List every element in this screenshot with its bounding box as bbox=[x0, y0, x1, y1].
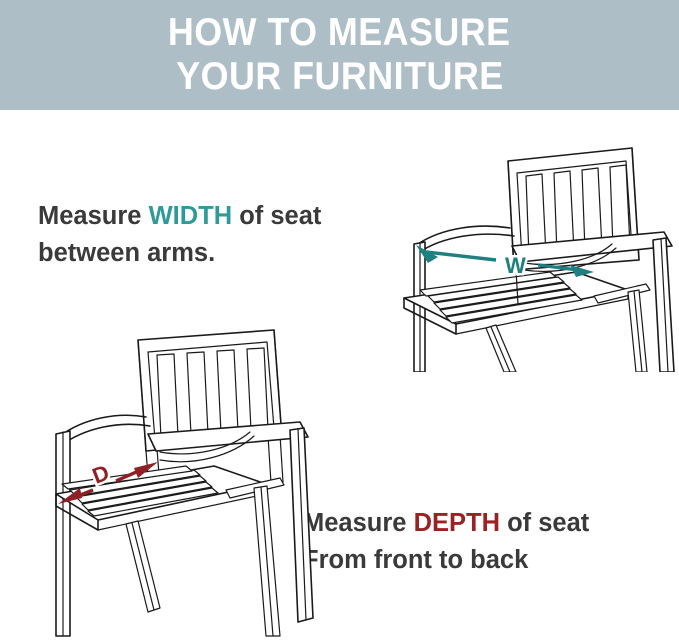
chair-illustration-width: W bbox=[398, 132, 679, 372]
chair-seat bbox=[404, 272, 628, 334]
caption-width-prefix: Measure bbox=[38, 202, 149, 230]
chair-arm-right bbox=[148, 422, 313, 622]
caption-width-keyword: WIDTH bbox=[149, 202, 233, 230]
caption-depth-line-2: From front to back bbox=[303, 542, 589, 579]
page-title-line-1: HOW TO MEASURE bbox=[168, 11, 511, 55]
caption-depth: Measure DEPTH of seat From front to back bbox=[303, 505, 589, 579]
caption-width-line-1: Measure WIDTH of seat bbox=[38, 198, 321, 235]
caption-depth-suffix: of seat bbox=[500, 509, 589, 537]
caption-depth-line-1: Measure DEPTH of seat bbox=[303, 505, 589, 542]
header-banner: HOW TO MEASURE YOUR FURNITURE bbox=[0, 0, 679, 110]
caption-depth-prefix: Measure bbox=[303, 509, 414, 537]
caption-width-suffix: of seat bbox=[232, 202, 321, 230]
page-title-line-2: YOUR FURNITURE bbox=[176, 55, 503, 99]
chair-back-panel bbox=[138, 330, 283, 488]
infographic-canvas: HOW TO MEASURE YOUR FURNITURE Measure WI… bbox=[0, 0, 679, 642]
chair-seat bbox=[56, 466, 266, 530]
width-dimension-label: W bbox=[505, 253, 526, 278]
chair-illustration-depth: D bbox=[18, 318, 318, 642]
caption-width: Measure WIDTH of seat between arms. bbox=[38, 198, 321, 272]
caption-depth-keyword: DEPTH bbox=[414, 509, 500, 537]
caption-width-line-2: between arms. bbox=[38, 235, 321, 272]
